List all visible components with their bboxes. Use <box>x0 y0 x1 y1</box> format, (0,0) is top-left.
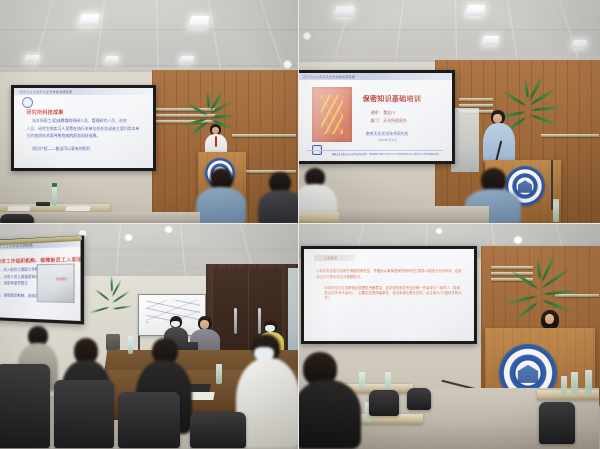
slide-inset-photo <box>36 264 74 303</box>
photo-panel-bottom-left[interactable]: 南京天文光学技术研究所 保密工作组织机构、保障新员工入职培训 一、新入职员工保密… <box>0 224 299 449</box>
slide-org-line: 南京天文光学技术研究所 <box>366 131 409 137</box>
water-bottle <box>52 186 57 206</box>
presenter-face <box>545 314 554 324</box>
speaker-face <box>200 320 209 329</box>
downlight <box>303 32 311 40</box>
bottle-cap <box>52 183 57 187</box>
attendee-torso <box>258 190 299 224</box>
slide-header-text: 国家天文台南京天文光学技术研究所 <box>20 89 73 94</box>
chair <box>0 214 34 224</box>
presenter-face <box>212 127 219 134</box>
slide-body-line: 人员、研究生和实习人员等在执行本单位的任务或者主要利用本单 <box>27 126 140 132</box>
face-mask <box>265 325 275 332</box>
document-paper <box>65 206 90 211</box>
attendee-torso <box>299 380 361 449</box>
ceiling-light <box>104 56 119 63</box>
presenter-face <box>493 114 502 123</box>
slide-footer-text: 国家天文台南京天文光学技术研究所 · NANJING INSTITUTE OF … <box>332 152 439 156</box>
water-bottle <box>571 372 578 394</box>
photo-panel-top-left[interactable]: 国家天文台南京天文光学技术研究所 研究所科技成果 指本所职工/组成聘用的科研人员… <box>0 0 299 224</box>
downlight <box>124 234 133 241</box>
lanyard <box>215 136 217 147</box>
slide-title: 研究所科技成果 <box>27 109 64 116</box>
water-bottle <box>128 336 133 354</box>
ceiling-light <box>179 56 194 63</box>
water-bottle <box>561 376 567 394</box>
slide-surface: 注意事项 从事具有保密内容研究课题的研究生，外国对从事保密研究的研究生指导小组提… <box>304 249 474 341</box>
water-bottle <box>385 372 391 390</box>
projection-screen[interactable]: 国家天文台南京天文光学技术研究所 保密知识基础培训 讲师： 董志川 部门： 天光… <box>299 70 455 164</box>
downlight <box>164 226 173 233</box>
slide-body-line: 从事具有保密内容研究课题的研究生，外国对从事保密研究的研究生指导小组提出书面申请… <box>316 269 462 280</box>
device <box>36 202 50 206</box>
slide-body-line: 三、保密承诺书签订 <box>0 281 28 287</box>
slide-inset-caption: 现场图片 <box>56 277 68 281</box>
chair[interactable] <box>369 390 399 416</box>
ceiling-light <box>334 6 355 17</box>
slide-header-text: 国家天文台南京天文光学技术研究所 <box>303 74 356 79</box>
water-bottle <box>553 202 559 222</box>
chair[interactable] <box>54 380 114 448</box>
palm-frond <box>528 113 559 127</box>
bamboo-leaf <box>112 305 133 310</box>
bamboo-leaf <box>94 288 111 302</box>
institute-seal-icon <box>22 97 33 108</box>
water-bottle <box>216 364 222 384</box>
slide-body-line: 二、涉密人员上岗保密审查 <box>0 275 39 281</box>
slide-body-line: 位的物质技术条件所完成的职务科技成果。 <box>27 133 101 139</box>
chair[interactable] <box>407 388 431 410</box>
slide-body-line: 申请学位论文答辩请必须提供书面意见，且学校的有关专业的第一作者单位一致时人（导师… <box>324 286 462 302</box>
attendee <box>258 172 299 224</box>
palm-frond <box>210 114 238 119</box>
slide-surface: 国家天文台南京天文光学技术研究所 研究所科技成果 指本所职工/组成聘用的科研人员… <box>14 88 153 168</box>
attendee <box>196 168 246 224</box>
slide-body-line: 讲师： 董志川 <box>370 110 395 116</box>
chair[interactable] <box>190 412 246 448</box>
slide-surface: 国家天文台南京天文光学技术研究所 保密知识基础培训 讲师： 董志川 部门： 天光… <box>299 73 452 161</box>
slide-date-line: 2023年7月26日 <box>378 138 397 142</box>
door-handle[interactable] <box>234 308 237 334</box>
photo-panel-bottom-right[interactable]: 注意事项 从事具有保密内容研究课题的研究生，外国对从事保密研究的研究生指导小组提… <box>299 224 600 449</box>
wall-glass-panel <box>451 108 479 172</box>
slide-surface: 南京天文光学技术研究所 保密工作组织机构、保障新员工入职培训 一、新入职员工保密… <box>0 239 81 321</box>
presenter <box>483 110 515 164</box>
slide-title: 保密知识基础培训 <box>363 94 421 104</box>
photo-collage: 国家天文台南京天文光学技术研究所 研究所科技成果 指本所职工/组成聘用的科研人员… <box>0 0 600 449</box>
photo-panel-top-right[interactable]: 国家天文台南京天文光学技术研究所 保密知识基础培训 讲师： 董志川 部门： 天光… <box>299 0 600 224</box>
projection-screen[interactable]: 国家天文台南京天文光学技术研究所 研究所科技成果 指本所职工/组成聘用的科研人员… <box>11 85 156 171</box>
palm-frond <box>185 101 209 117</box>
ceiling-light <box>189 16 210 28</box>
wall-trim <box>491 266 533 269</box>
wall-trim <box>459 98 493 101</box>
projection-screen[interactable]: 南京天文光学技术研究所 保密工作组织机构、保障新员工入职培训 一、新入职员工保密… <box>0 236 84 325</box>
bamboo-leaf <box>89 306 111 314</box>
ceiling-light <box>466 5 486 16</box>
palm-frond <box>541 289 580 296</box>
ceiling-light <box>24 55 40 62</box>
water-bottle <box>585 370 592 394</box>
ceiling-light <box>482 36 499 45</box>
slide-footer-line-text: 知识产权——依法可以享有的权利 <box>32 146 90 152</box>
ceiling-light <box>78 14 99 26</box>
chair[interactable] <box>118 392 180 448</box>
wall-trim <box>232 134 296 137</box>
chair[interactable] <box>539 402 575 444</box>
slide-body-line: 部门： 天光所保密办 <box>370 118 406 124</box>
downlight <box>513 236 523 244</box>
attendee-torso <box>196 187 246 224</box>
downlight <box>435 228 443 234</box>
calligraphy-artwork <box>312 87 352 142</box>
floor <box>339 206 489 224</box>
attendee-foreground <box>299 352 361 449</box>
ceiling-light <box>572 40 587 48</box>
document-paper <box>7 206 30 211</box>
bottle-cap <box>553 199 559 203</box>
projection-screen[interactable]: 注意事项 从事具有保密内容研究课题的研究生，外国对从事保密研究的研究生指导小组提… <box>301 246 477 344</box>
palm-frond <box>529 105 564 112</box>
chair[interactable] <box>0 364 50 448</box>
slide-body-line: 指本所职工/组成聘用的科研人员、管理研究人员、进修 <box>32 118 127 124</box>
wall-trim <box>459 104 493 107</box>
slide-header-text: 注意事项 <box>324 256 337 260</box>
